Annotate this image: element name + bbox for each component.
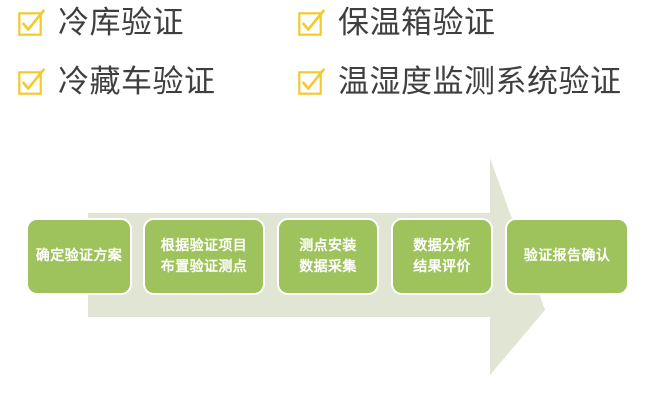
process-step-line: 布置验证测点 [161, 257, 247, 277]
process-step-line: 根据验证项目 [161, 236, 247, 256]
checklist-item[interactable]: 温湿度监测系统验证 [298, 67, 622, 98]
checklist-item-label: 冷藏车验证 [58, 67, 216, 98]
validation-checklist: 冷库验证 保温箱验证 冷藏车验证 [0, 0, 653, 125]
process-step[interactable]: 数据分析 结果评价 [391, 218, 493, 295]
process-step-line: 确定验证方案 [36, 246, 122, 266]
process-step-line: 结果评价 [413, 257, 471, 277]
checklist-item[interactable]: 保温箱验证 [298, 8, 496, 39]
checklist-item[interactable]: 冷藏车验证 [18, 67, 216, 98]
checkbox-checked-icon[interactable] [298, 71, 322, 95]
process-step-line: 测点安装 [299, 236, 357, 256]
process-step[interactable]: 确定验证方案 [26, 218, 132, 295]
validation-process-flow: 确定验证方案 根据验证项目 布置验证测点 测点安装 数据采集 数据分析 结果评价… [0, 130, 653, 403]
checkbox-checked-icon[interactable] [298, 12, 322, 36]
checklist-item-label: 冷库验证 [58, 8, 184, 39]
checkbox-checked-icon[interactable] [18, 12, 42, 36]
checklist-item-label: 保温箱验证 [338, 8, 496, 39]
process-step-line: 验证报告确认 [524, 246, 610, 266]
process-step-list: 确定验证方案 根据验证项目 布置验证测点 测点安装 数据采集 数据分析 结果评价… [0, 130, 653, 403]
process-step-line: 数据分析 [413, 236, 471, 256]
checklist-item-label: 温湿度监测系统验证 [338, 67, 622, 98]
checklist-item[interactable]: 冷库验证 [18, 8, 184, 39]
checkbox-checked-icon[interactable] [18, 71, 42, 95]
process-step[interactable]: 根据验证项目 布置验证测点 [143, 218, 265, 295]
slide-canvas: 冷库验证 保温箱验证 冷藏车验证 [0, 0, 653, 403]
process-step-line: 数据采集 [299, 257, 357, 277]
process-step[interactable]: 验证报告确认 [505, 218, 629, 295]
process-step[interactable]: 测点安装 数据采集 [277, 218, 379, 295]
